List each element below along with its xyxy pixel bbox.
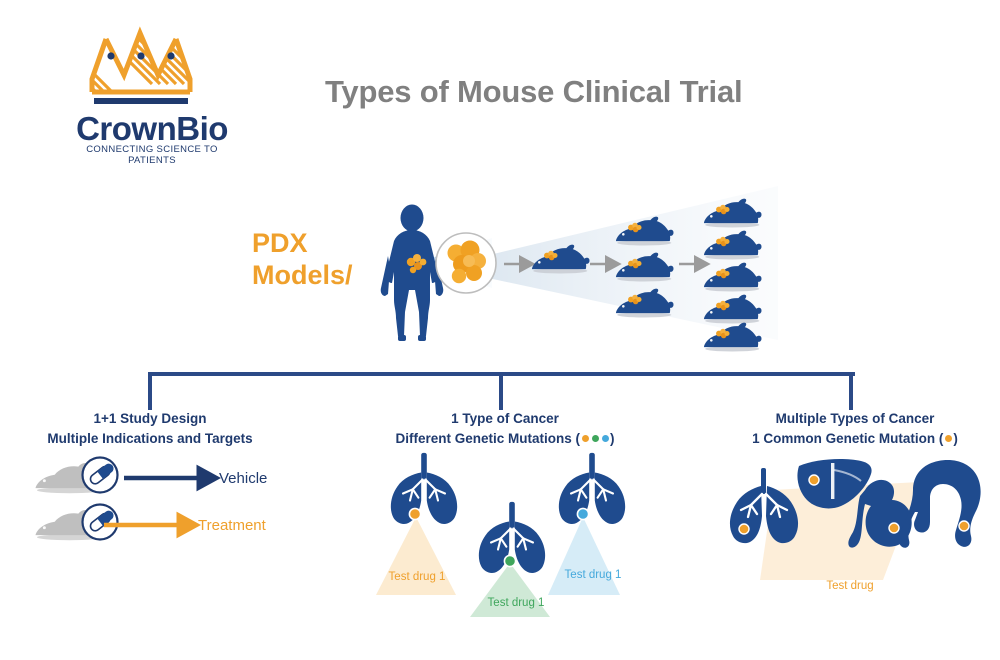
connector-bracket: [0, 360, 1000, 410]
column-heading-one-cancer: 1 Type of Cancer Different Genetic Mutat…: [355, 409, 655, 448]
drug-label-green: Test drug 1: [471, 597, 561, 609]
drug-label-test-drug: Test drug: [805, 580, 895, 592]
mutation-marker-blue: [577, 508, 588, 519]
heading-text-pre: 1 Common Genetic Mutation (: [752, 431, 943, 446]
pdx-label-line1: PDX: [252, 228, 308, 258]
treatment-label: Treatment: [198, 517, 266, 534]
pdx-label-line2: Models/: [252, 260, 353, 290]
mutation-marker: [889, 523, 899, 533]
drug-cone-orange: [376, 517, 456, 595]
mutation-marker: [959, 521, 969, 531]
heading-text-pre: Different Genetic Mutations (: [395, 431, 580, 446]
lungs-icon: [730, 468, 798, 543]
infographic-canvas: CrownBio CONNECTING SCIENCE TO PATIENTS …: [0, 0, 1000, 660]
pdx-models-label: PDX Models/: [252, 228, 402, 292]
mutation-dot-orange: [945, 435, 952, 442]
drug-label-blue: Test drug 1: [548, 569, 638, 581]
mutation-marker: [809, 475, 819, 485]
study-arm-treatment: [36, 505, 184, 541]
mutation-dot-blue: [602, 435, 609, 442]
lungs-icon-blue: [559, 453, 625, 524]
pill-icon: [83, 505, 118, 540]
heading-text-post: ): [953, 431, 958, 446]
drug-cone-blue: [548, 517, 620, 595]
column-heading-multi-cancer: Multiple Types of Cancer 1 Common Geneti…: [705, 409, 1000, 448]
mutation-marker-orange: [409, 508, 420, 519]
mutation-dot-orange: [582, 435, 589, 442]
heading-line-1: Multiple Types of Cancer: [705, 409, 1000, 429]
mutation-marker-green: [504, 555, 515, 566]
vehicle-label: Vehicle: [219, 470, 267, 487]
mutation-marker: [739, 524, 749, 534]
pdx-diagram: [0, 0, 1000, 360]
heading-text-post: ): [610, 431, 615, 446]
lungs-icon-green: [479, 502, 545, 573]
tumor-magnifier: [436, 233, 496, 293]
multi-cancer-organs: [715, 450, 990, 600]
study-arm-vehicle: [36, 458, 204, 494]
study-design-arms: [0, 450, 320, 570]
lungs-icon-orange: [391, 453, 457, 524]
drug-label-orange: Test drug 1: [372, 571, 462, 583]
heading-line-1: 1+1 Study Design: [0, 409, 300, 429]
colon-icon: [899, 460, 981, 548]
mutation-dot-green: [592, 435, 599, 442]
single-cancer-organs: [370, 445, 640, 620]
pill-icon: [83, 458, 118, 493]
heading-line-1: 1 Type of Cancer: [355, 409, 655, 429]
heading-line-2: 1 Common Genetic Mutation (): [705, 429, 1000, 449]
heading-line-2: Multiple Indications and Targets: [0, 429, 300, 449]
column-heading-one-plus-one: 1+1 Study Design Multiple Indications an…: [0, 409, 300, 448]
